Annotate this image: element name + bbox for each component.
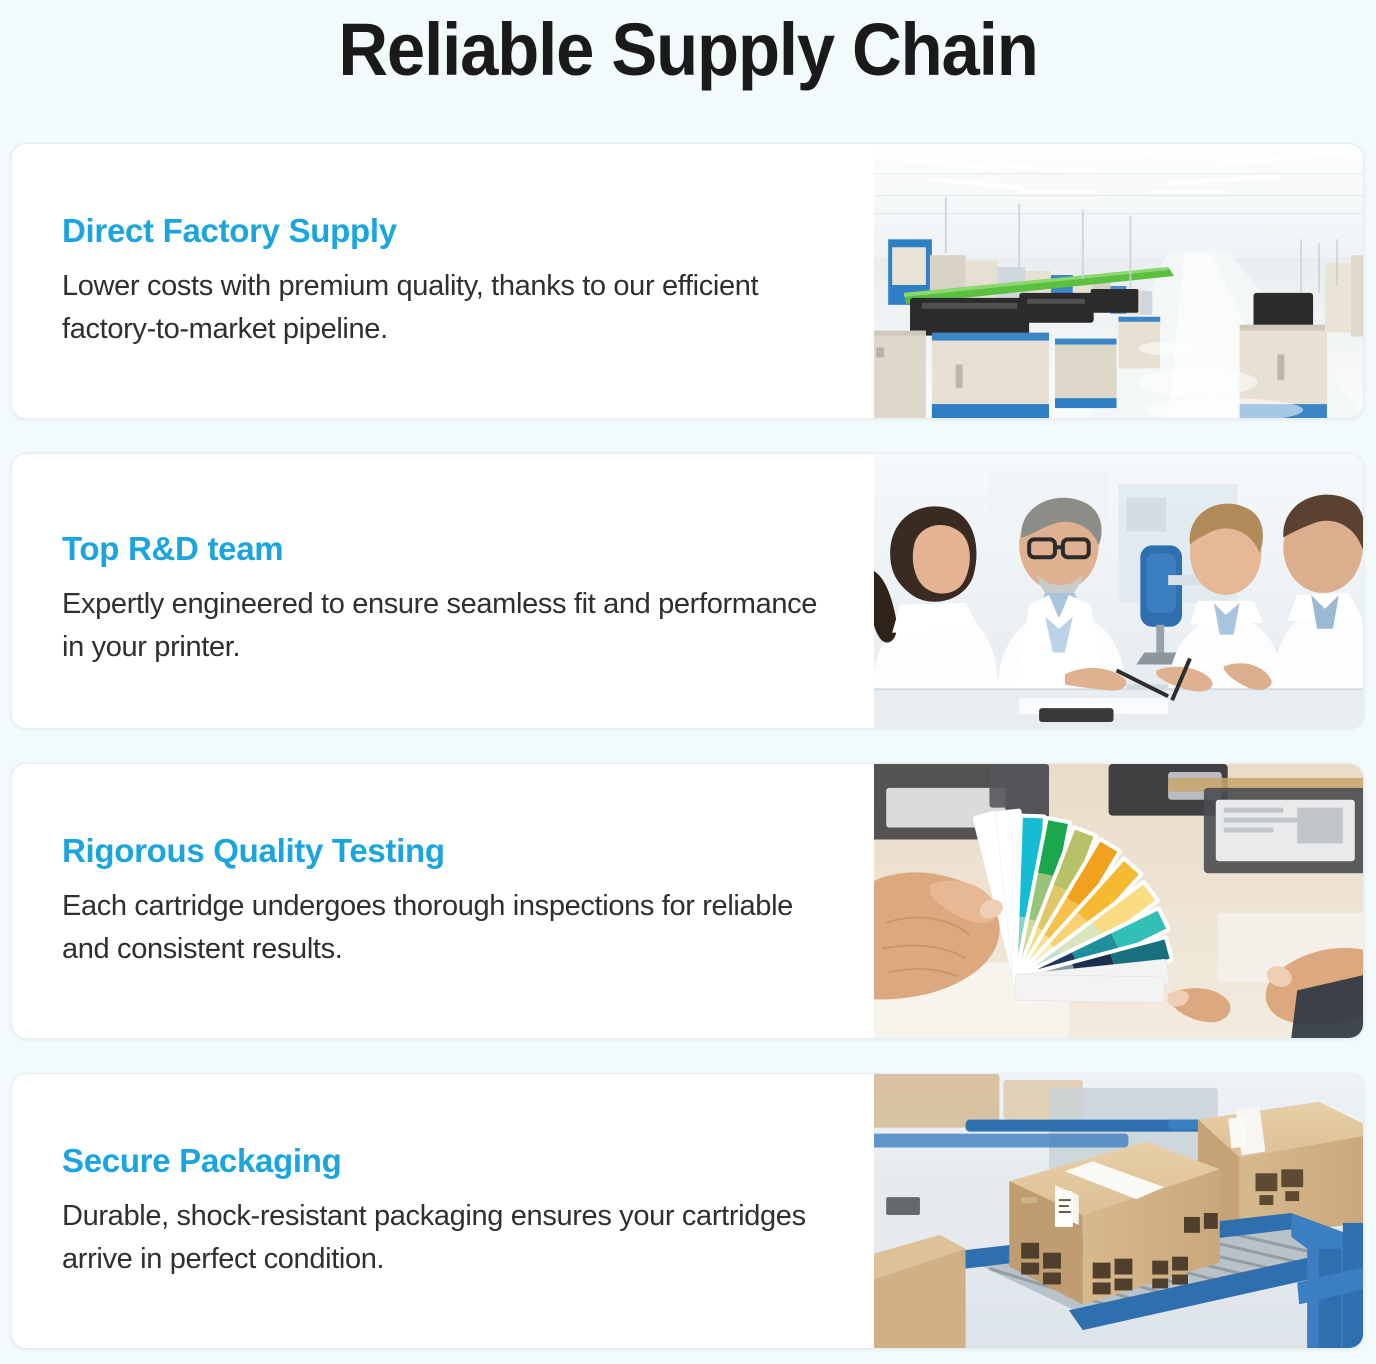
feature-card-secure-packaging: Secure Packaging Durable, shock-resistan… xyxy=(11,1073,1364,1349)
rd-team-lab-photo xyxy=(874,454,1363,728)
card-text-block: Secure Packaging Durable, shock-resistan… xyxy=(12,1074,874,1348)
feature-card-rigorous-quality-testing: Rigorous Quality Testing Each cartridge … xyxy=(11,763,1364,1039)
feature-card-list: Direct Factory Supply Lower costs with p… xyxy=(0,143,1376,1349)
card-heading: Top R&D team xyxy=(62,529,828,569)
card-text-block: Top R&D team Expertly engineered to ensu… xyxy=(12,454,874,728)
feature-card-direct-factory-supply: Direct Factory Supply Lower costs with p… xyxy=(11,143,1364,419)
card-heading: Secure Packaging xyxy=(62,1141,828,1181)
factory-production-line-photo xyxy=(874,144,1363,418)
card-heading: Rigorous Quality Testing xyxy=(62,831,828,871)
card-heading: Direct Factory Supply xyxy=(62,211,828,251)
card-description: Each cartridge undergoes thorough inspec… xyxy=(62,885,822,971)
card-description: Expertly engineered to ensure seamless f… xyxy=(62,583,822,669)
card-description: Lower costs with premium quality, thanks… xyxy=(62,265,822,351)
card-text-block: Direct Factory Supply Lower costs with p… xyxy=(12,144,874,418)
color-swatch-testing-photo xyxy=(874,764,1363,1038)
page-title: Reliable Supply Chain xyxy=(48,0,1328,98)
feature-card-top-rd-team: Top R&D team Expertly engineered to ensu… xyxy=(11,453,1364,729)
conveyor-packaging-photo xyxy=(874,1074,1363,1348)
card-description: Durable, shock-resistant packaging ensur… xyxy=(62,1195,822,1281)
card-text-block: Rigorous Quality Testing Each cartridge … xyxy=(12,764,874,1038)
